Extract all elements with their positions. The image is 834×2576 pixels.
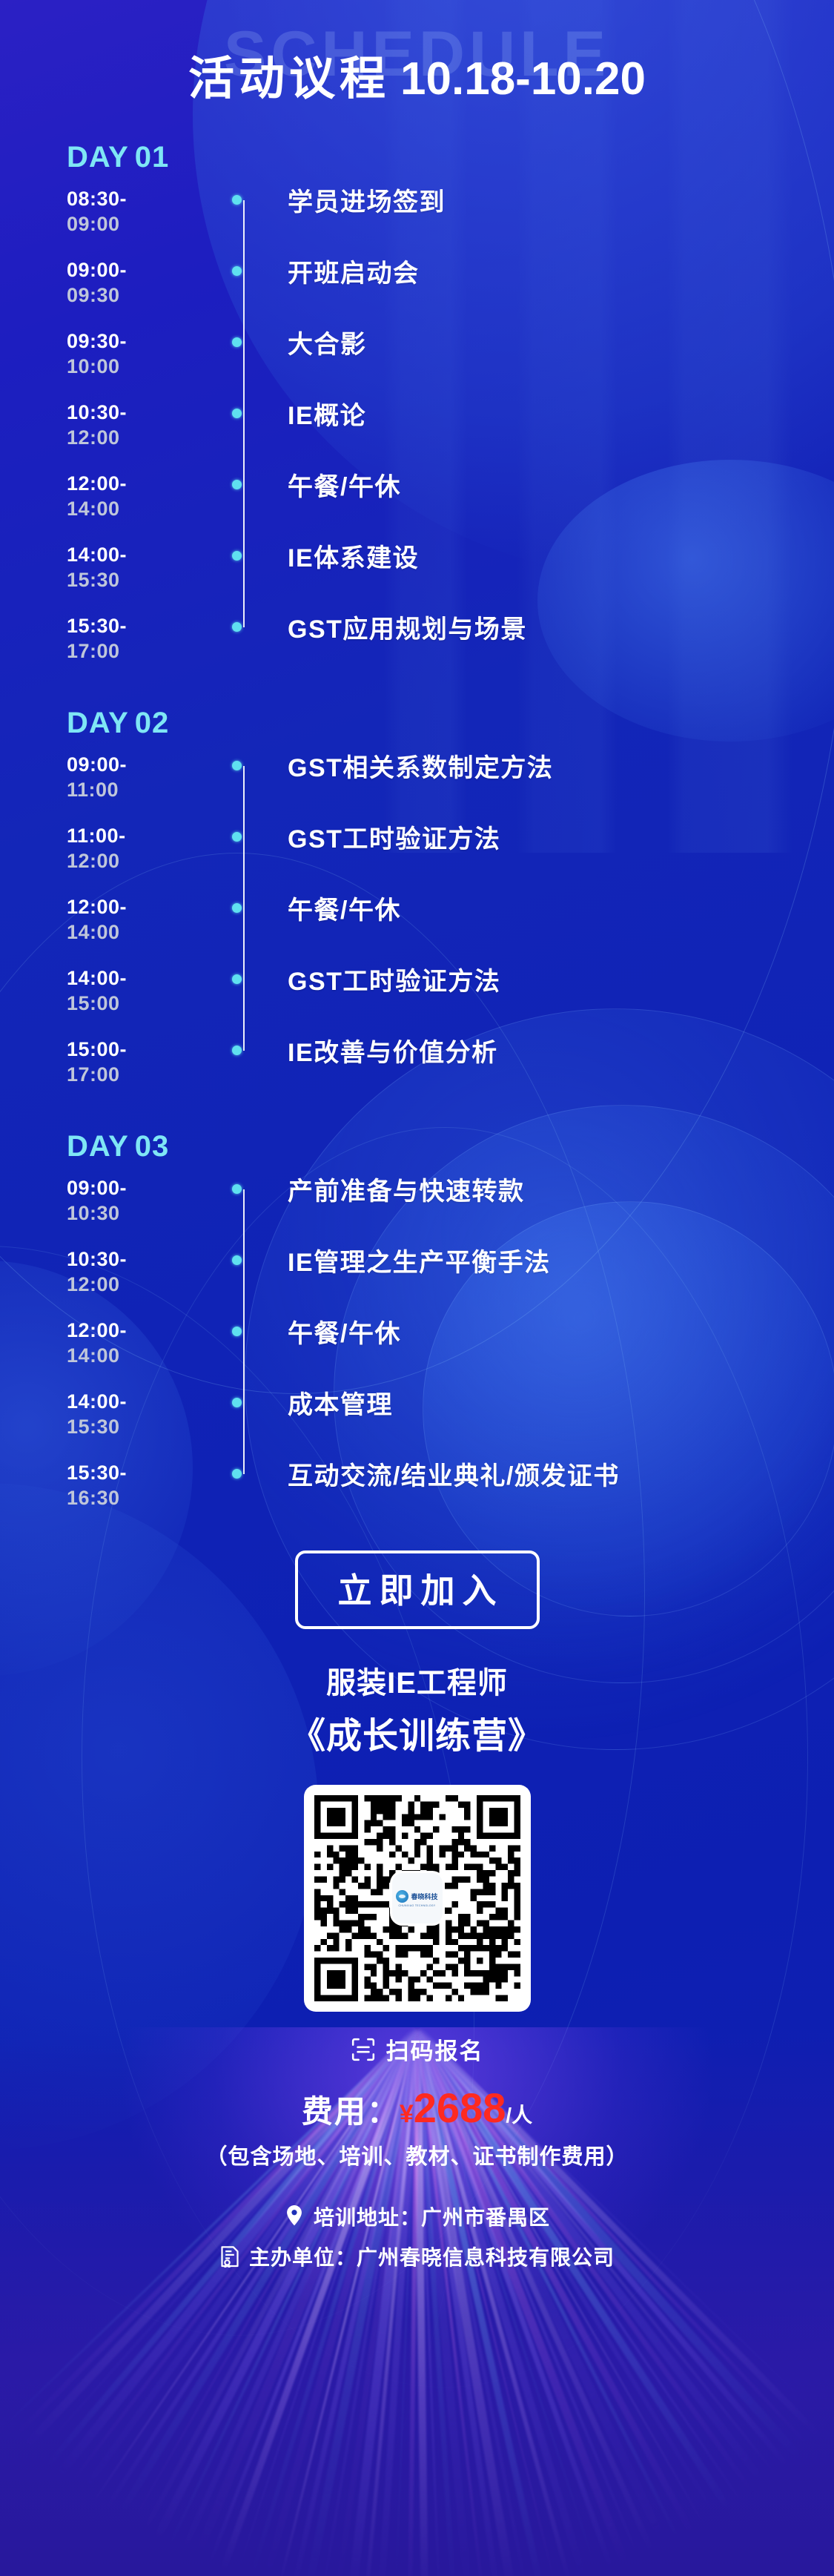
- schedule-row: 14:00-15:00GST工时验证方法: [0, 965, 834, 1020]
- schedule-time-end: 14:00: [67, 1343, 215, 1368]
- schedule-title: IE改善与价值分析: [288, 1037, 834, 1068]
- page-title-dates: 10.18-10.20: [400, 53, 646, 105]
- schedule-time: 09:00-11:00: [0, 752, 215, 802]
- location-pin-icon: [284, 2205, 305, 2227]
- schedule-time-start: 14:00-: [67, 1389, 215, 1414]
- timeline-dot-icon: [232, 622, 242, 632]
- footer-address-text: 培训地址：广州市番禺区: [314, 2202, 550, 2231]
- poster-content: SCHEDULE 活动议程10.18-10.20 DAY0108:30-09:0…: [0, 0, 834, 2271]
- schedule-row: 12:00-14:00午餐/午休: [0, 1318, 834, 1373]
- day-label-number: 02: [135, 707, 170, 739]
- qr-center-logo: 春晓科技 CHUNXIAO TECHNOLOGY: [392, 1873, 443, 1923]
- schedule-row: 14:00-15:30IE体系建设: [0, 542, 834, 597]
- page-title-cn: 活动议程: [188, 53, 390, 105]
- schedule-time-end: 15:30: [67, 567, 215, 592]
- footer-organizer-text: 主办单位：广州春晓信息科技有限公司: [249, 2242, 615, 2271]
- price-unit: /人: [506, 2104, 532, 2127]
- price-currency: ¥: [400, 2100, 414, 2128]
- timeline-dot-icon: [232, 903, 242, 913]
- schedule-time-start: 15:30-: [67, 613, 215, 638]
- scan-code-icon: [351, 2037, 376, 2062]
- join-now-button[interactable]: 立即加入: [295, 1550, 540, 1629]
- schedule-title: GST工时验证方法: [288, 823, 834, 854]
- schedule-title: 午餐/午休: [288, 1318, 834, 1349]
- schedule-time: 14:00-15:00: [0, 965, 215, 1016]
- schedule-title: 开班启动会: [288, 257, 834, 288]
- schedule-time: 15:30-17:00: [0, 613, 215, 664]
- poster-header: SCHEDULE 活动议程10.18-10.20: [0, 0, 834, 132]
- schedule-time-start: 10:30-: [67, 400, 215, 425]
- day-timeline-01: 08:30-09:00学员进场签到09:00-09:30开班启动会09:30-1…: [0, 186, 834, 668]
- timeline-dot-icon: [232, 551, 242, 561]
- schedule-time-start: 15:30-: [67, 1460, 215, 1485]
- day-block-03: DAY0309:00-10:30产前准备与快速转款10:30-12:00IE管理…: [0, 1130, 834, 1515]
- timeline-dot-icon: [232, 409, 242, 418]
- timeline-dot-icon: [232, 480, 242, 489]
- timeline-dot-icon: [232, 1327, 242, 1336]
- schedule-time: 11:00-12:00: [0, 823, 215, 873]
- day-block-01: DAY0108:30-09:00学员进场签到09:00-09:30开班启动会09…: [0, 141, 834, 668]
- schedule-row: 15:30-17:00GST应用规划与场景: [0, 613, 834, 668]
- schedule-time: 10:30-12:00: [0, 1246, 215, 1297]
- schedule-title: IE体系建设: [288, 542, 834, 573]
- timeline-dot-icon: [232, 832, 242, 842]
- schedule-title: 学员进场签到: [288, 186, 834, 217]
- price-amount: 2688: [414, 2084, 506, 2131]
- schedule-time: 12:00-14:00: [0, 1318, 215, 1368]
- scan-label: 扫码报名: [386, 2032, 484, 2066]
- schedule-row: 08:30-09:00学员进场签到: [0, 186, 834, 241]
- schedule-time: 09:30-10:00: [0, 328, 215, 379]
- schedule-time-start: 10:30-: [67, 1246, 215, 1272]
- day-timeline-03: 09:00-10:30产前准备与快速转款10:30-12:00IE管理之生产平衡…: [0, 1175, 834, 1515]
- poster-root: SCHEDULE 活动议程10.18-10.20 DAY0108:30-09:0…: [0, 0, 834, 2576]
- schedule-time: 14:00-15:30: [0, 1389, 215, 1439]
- schedule-time-start: 09:00-: [67, 1175, 215, 1201]
- schedule-time-start: 14:00-: [67, 542, 215, 567]
- schedule-row: 14:00-15:30成本管理: [0, 1389, 834, 1444]
- schedule-row: 09:00-09:30开班启动会: [0, 257, 834, 312]
- schedule-time: 12:00-14:00: [0, 894, 215, 945]
- schedule-time-end: 10:00: [67, 354, 215, 379]
- schedule-time-end: 17:00: [67, 1062, 215, 1087]
- schedule-row: 10:30-12:00IE概论: [0, 400, 834, 455]
- day-timeline-02: 09:00-11:00GST相关系数制定方法11:00-12:00GST工时验证…: [0, 752, 834, 1092]
- schedule-title: GST应用规划与场景: [288, 613, 834, 644]
- schedule-time-start: 14:00-: [67, 965, 215, 991]
- schedule-time-end: 12:00: [67, 1272, 215, 1297]
- price-label: 费用：: [302, 2094, 400, 2129]
- schedule-title: 午餐/午休: [288, 894, 834, 925]
- qr-section: 春晓科技 CHUNXIAO TECHNOLOGY: [0, 1785, 834, 2012]
- schedule-time-start: 12:00-: [67, 471, 215, 496]
- schedule-time-end: 09:00: [67, 211, 215, 237]
- camp-subtitle-line2: 《成长训练营》: [0, 1706, 834, 1758]
- day-block-02: DAY0209:00-11:00GST相关系数制定方法11:00-12:00GS…: [0, 707, 834, 1092]
- camp-subtitle-line1: 服装IE工程师: [0, 1659, 834, 1702]
- footer-row-organizer: 主办单位：广州春晓信息科技有限公司: [0, 2242, 834, 2271]
- timeline-dot-icon: [232, 1255, 242, 1265]
- timeline-dot-icon: [232, 761, 242, 770]
- schedule-time: 14:00-15:30: [0, 542, 215, 592]
- day-label-03: DAY03: [0, 1130, 834, 1163]
- day-label-number: 03: [135, 1130, 170, 1163]
- schedule-row: 09:00-11:00GST相关系数制定方法: [0, 752, 834, 807]
- schedule-time-start: 11:00-: [67, 823, 215, 848]
- timeline-dot-icon: [232, 1398, 242, 1407]
- schedule-title: IE管理之生产平衡手法: [288, 1246, 834, 1278]
- schedule-list: DAY0108:30-09:00学员进场签到09:00-09:30开班启动会09…: [0, 141, 834, 1515]
- schedule-title: 午餐/午休: [288, 471, 834, 502]
- qr-logo-company-en: CHUNXIAO TECHNOLOGY: [398, 1904, 435, 1907]
- timeline-dot-icon: [232, 1046, 242, 1055]
- timeline-dot-icon: [232, 974, 242, 984]
- schedule-time-start: 12:00-: [67, 894, 215, 919]
- schedule-time-end: 14:00: [67, 496, 215, 521]
- schedule-time-start: 09:00-: [67, 752, 215, 777]
- scan-prompt: 扫码报名: [0, 2032, 834, 2066]
- schedule-row: 09:00-10:30产前准备与快速转款: [0, 1175, 834, 1230]
- day-label-text: DAY: [67, 1130, 129, 1163]
- schedule-time-end: 09:30: [67, 283, 215, 308]
- schedule-time-end: 10:30: [67, 1201, 215, 1226]
- schedule-time-start: 08:30-: [67, 186, 215, 211]
- price-line: 费用：¥2688/人: [0, 2084, 834, 2132]
- schedule-row: 10:30-12:00IE管理之生产平衡手法: [0, 1246, 834, 1301]
- qr-logo-row: 春晓科技: [396, 1890, 437, 1903]
- page-title: 活动议程10.18-10.20: [0, 41, 834, 108]
- schedule-time-end: 15:00: [67, 991, 215, 1016]
- timeline-dot-icon: [232, 1469, 242, 1479]
- schedule-time: 15:00-17:00: [0, 1037, 215, 1087]
- schedule-row: 12:00-14:00午餐/午休: [0, 471, 834, 526]
- schedule-time-start: 12:00-: [67, 1318, 215, 1343]
- timeline-dot-icon: [232, 1184, 242, 1194]
- schedule-time: 12:00-14:00: [0, 471, 215, 521]
- schedule-time-end: 15:30: [67, 1414, 215, 1439]
- timeline-dot-icon: [232, 266, 242, 276]
- footer-meta: 培训地址：广州市番禺区 主办单位：广州春晓信息科技有限公司: [0, 2202, 834, 2271]
- schedule-time-start: 15:00-: [67, 1037, 215, 1062]
- schedule-time-end: 16:30: [67, 1485, 215, 1510]
- schedule-title: 成本管理: [288, 1389, 834, 1420]
- schedule-time-start: 09:30-: [67, 328, 215, 354]
- schedule-time-end: 17:00: [67, 638, 215, 664]
- schedule-title: IE概论: [288, 400, 834, 431]
- footer-row-address: 培训地址：广州市番禺区: [0, 2202, 834, 2231]
- timeline-dot-icon: [232, 195, 242, 205]
- timeline-dot-icon: [232, 337, 242, 347]
- schedule-time-end: 12:00: [67, 425, 215, 450]
- schedule-title: GST相关系数制定方法: [288, 752, 834, 783]
- schedule-row: 15:30-16:30互动交流/结业典礼/颁发证书: [0, 1460, 834, 1515]
- schedule-time: 08:30-09:00: [0, 186, 215, 237]
- day-label-02: DAY02: [0, 707, 834, 740]
- schedule-time: 09:00-09:30: [0, 257, 215, 308]
- qr-logo-company-cn: 春晓科技: [411, 1892, 437, 1901]
- day-label-01: DAY01: [0, 141, 834, 174]
- cta-section: 立即加入: [0, 1550, 834, 1629]
- schedule-time-end: 14:00: [67, 919, 215, 945]
- schedule-time: 10:30-12:00: [0, 400, 215, 450]
- day-label-text: DAY: [67, 707, 129, 739]
- schedule-time-end: 11:00: [67, 777, 215, 802]
- schedule-row: 15:00-17:00IE改善与价值分析: [0, 1037, 834, 1092]
- day-label-text: DAY: [67, 141, 129, 174]
- schedule-row: 12:00-14:00午餐/午休: [0, 894, 834, 949]
- schedule-time-end: 12:00: [67, 848, 215, 873]
- price-note: （包含场地、培训、教材、证书制作费用）: [0, 2139, 834, 2170]
- company-mark-icon: [396, 1890, 408, 1903]
- qr-code[interactable]: 春晓科技 CHUNXIAO TECHNOLOGY: [304, 1785, 531, 2012]
- schedule-row: 09:30-10:00大合影: [0, 328, 834, 383]
- schedule-time: 15:30-16:30: [0, 1460, 215, 1510]
- schedule-time-start: 09:00-: [67, 257, 215, 283]
- schedule-title: 互动交流/结业典礼/颁发证书: [288, 1460, 834, 1491]
- schedule-title: 产前准备与快速转款: [288, 1175, 834, 1206]
- schedule-title: 大合影: [288, 328, 834, 360]
- certificate-icon: [219, 2245, 240, 2268]
- schedule-title: GST工时验证方法: [288, 965, 834, 997]
- day-label-number: 01: [135, 141, 170, 174]
- schedule-row: 11:00-12:00GST工时验证方法: [0, 823, 834, 878]
- schedule-time: 09:00-10:30: [0, 1175, 215, 1226]
